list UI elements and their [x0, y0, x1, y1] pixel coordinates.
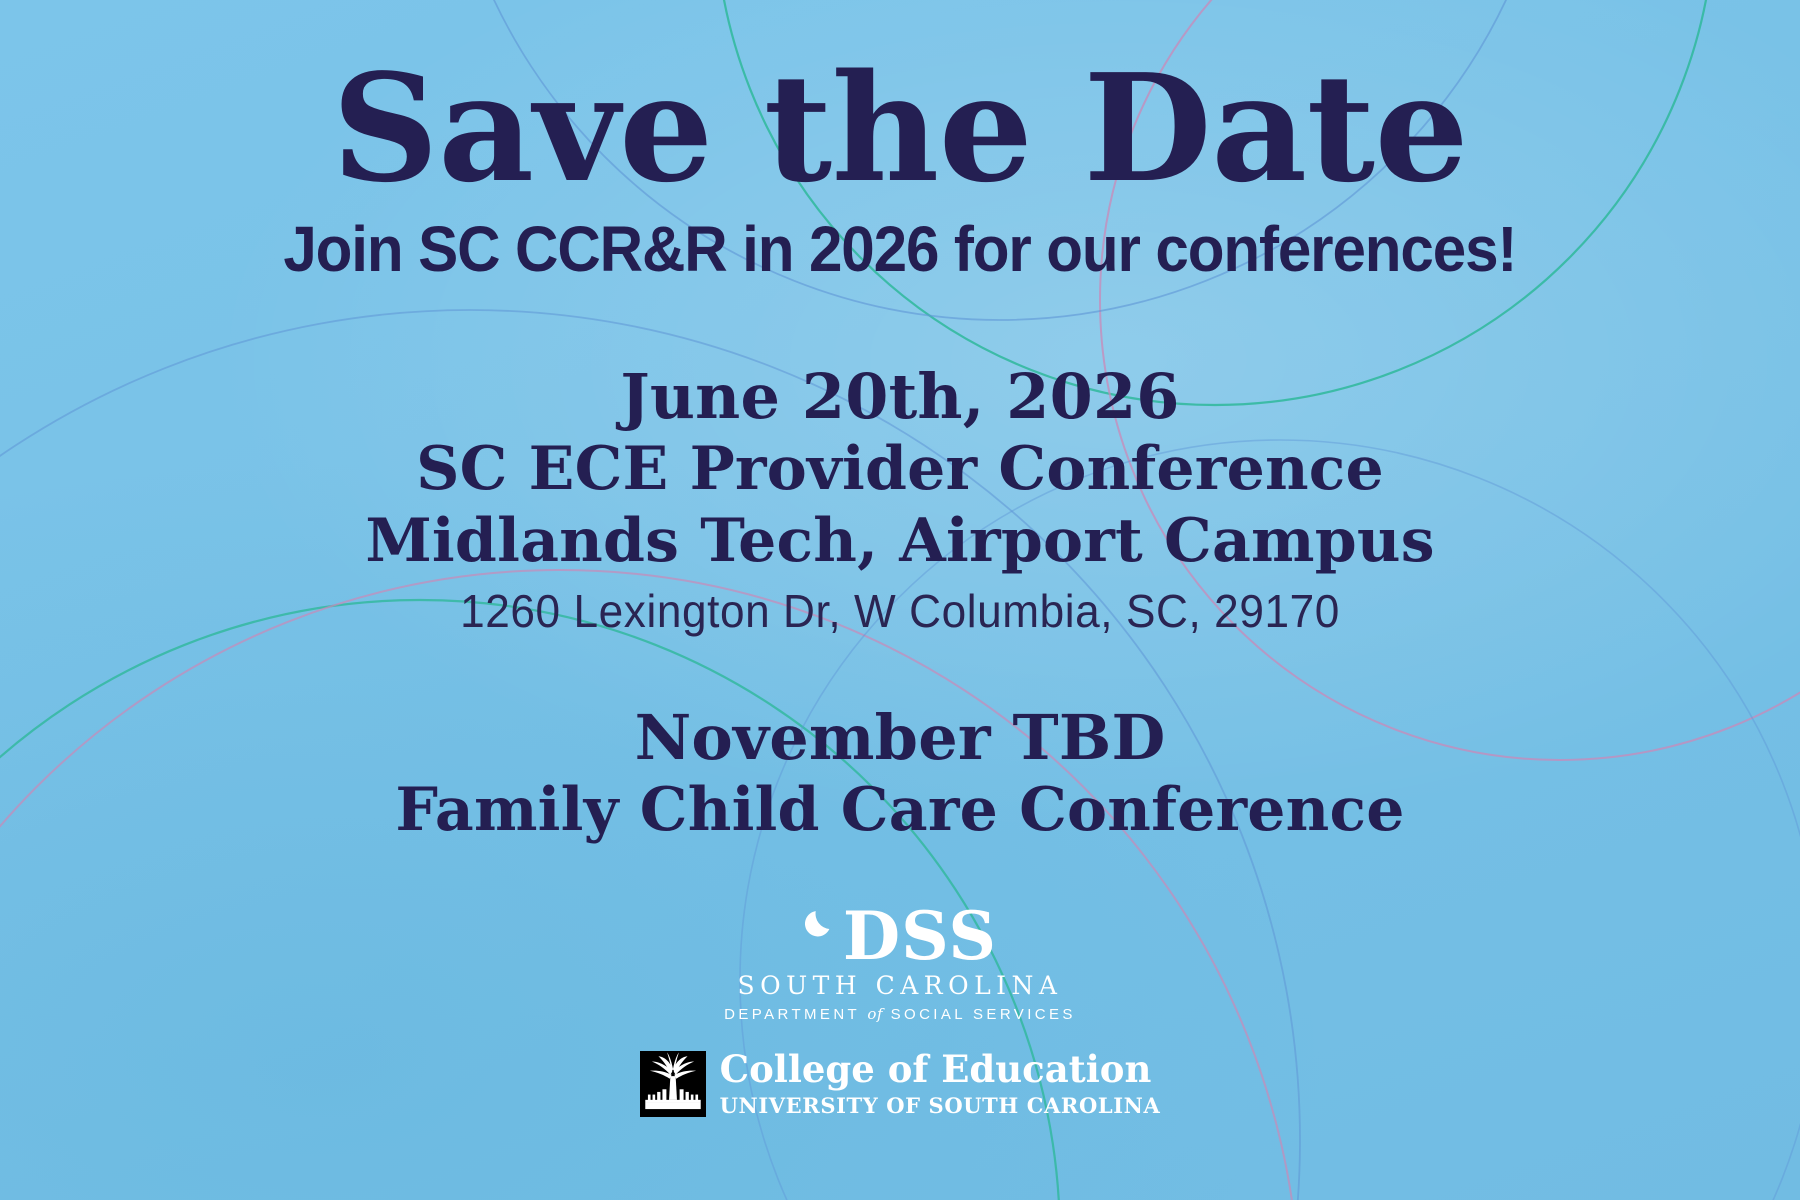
- usc-college-name: College of Education: [720, 1051, 1161, 1088]
- page-title: Save the Date: [332, 52, 1468, 206]
- save-the-date-poster: Save the Date Join SC CCR&R in 2026 for …: [0, 0, 1800, 1200]
- usc-logo: College of Education UNIVERSITY OF SOUTH…: [640, 1051, 1161, 1117]
- palmetto-tree-icon: [640, 1051, 706, 1117]
- dss-department-pre: DEPARTMENT: [724, 1006, 860, 1023]
- poster-subtitle: Join SC CCR&R in 2026 for our conference…: [284, 214, 1517, 284]
- event-block-november: November TBD Family Child Care Conferenc…: [0, 701, 1800, 846]
- dss-department-of: of: [867, 1005, 883, 1023]
- dss-department-post: SOCIAL SERVICES: [891, 1006, 1076, 1023]
- dss-acronym: DSS: [843, 904, 997, 969]
- event-block-june: June 20th, 2026 SC ECE Provider Conferen…: [0, 360, 1800, 641]
- usc-university-name: UNIVERSITY OF SOUTH CAROLINA: [720, 1095, 1161, 1116]
- dss-department-line: DEPARTMENT of SOCIAL SERVICES: [724, 1005, 1076, 1023]
- event-date: November TBD: [0, 701, 1800, 774]
- event-name: Family Child Care Conference: [0, 774, 1800, 846]
- poster-content: Save the Date Join SC CCR&R in 2026 for …: [0, 0, 1800, 1200]
- event-name: SC ECE Provider Conference: [0, 433, 1800, 505]
- event-address: 1260 Lexington Dr, W Columbia, SC, 29170: [36, 583, 1764, 641]
- crescent-moon-icon: [803, 906, 837, 940]
- usc-logo-text: College of Education UNIVERSITY OF SOUTH…: [720, 1051, 1161, 1116]
- logo-group: DSS SOUTH CAROLINA DEPARTMENT of SOCIAL …: [640, 904, 1161, 1117]
- dss-logo-top: DSS: [803, 904, 997, 969]
- dss-state-line: SOUTH CAROLINA: [737, 971, 1062, 1000]
- dss-logo: DSS SOUTH CAROLINA DEPARTMENT of SOCIAL …: [724, 904, 1076, 1023]
- event-date: June 20th, 2026: [0, 360, 1800, 433]
- event-venue: Midlands Tech, Airport Campus: [0, 505, 1800, 577]
